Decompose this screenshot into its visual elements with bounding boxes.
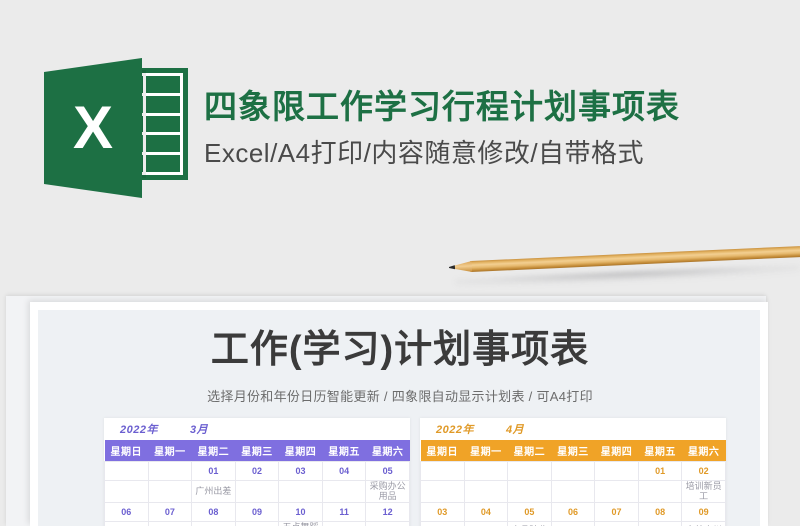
weekday-fri: 星期五 <box>638 440 682 462</box>
weekday-thu: 星期四 <box>279 440 323 462</box>
weekday-wed: 星期三 <box>551 440 595 462</box>
event-cell[interactable] <box>421 481 465 503</box>
banner-subtitle: Excel/A4打印/内容随意修改/自带格式 <box>204 137 680 170</box>
day-cell[interactable]: 09 <box>235 502 279 521</box>
weekday-tue: 星期二 <box>192 440 236 462</box>
weekday-fri: 星期五 <box>322 440 366 462</box>
day-cell[interactable]: 02 <box>682 462 726 481</box>
day-cell[interactable]: 03 <box>421 502 465 521</box>
day-cell[interactable]: 05 <box>366 462 410 481</box>
day-cell[interactable]: 07 <box>148 502 192 521</box>
weekday-thu: 星期四 <box>595 440 639 462</box>
event-cell[interactable] <box>638 521 682 526</box>
day-cell[interactable]: 11 <box>322 502 366 521</box>
day-cell[interactable] <box>508 462 552 481</box>
event-cell[interactable]: 出差广州 <box>682 521 726 526</box>
weekday-sat: 星期六 <box>366 440 410 462</box>
calendar-event-row: 五点舞蹈课 <box>105 521 410 526</box>
event-cell[interactable] <box>421 521 465 526</box>
event-cell[interactable] <box>595 481 639 503</box>
calendar-april[interactable]: 2022年 4月 星期日 星期一 星期二 星期三 星期四 星期五 星期六 <box>420 418 726 526</box>
calendar-april-weekday-row: 星期日 星期一 星期二 星期三 星期四 星期五 星期六 <box>421 440 726 462</box>
event-cell[interactable] <box>105 521 149 526</box>
day-cell[interactable] <box>421 462 465 481</box>
calendar-march-weekday-row: 星期日 星期一 星期二 星期三 星期四 星期五 星期六 <box>105 440 410 462</box>
calendar-day-row: 01 02 03 04 05 <box>105 462 410 481</box>
event-cell[interactable] <box>148 481 192 503</box>
excel-logo-icon: X <box>38 58 190 198</box>
event-cell[interactable]: 产品验收 <box>508 521 552 526</box>
event-cell[interactable] <box>235 481 279 503</box>
calendar-march-year[interactable]: 2022年 <box>120 421 190 437</box>
brand-text-block: 四象限工作学习行程计划事项表 Excel/A4打印/内容随意修改/自带格式 <box>204 86 680 170</box>
calendar-april-header: 2022年 4月 <box>420 418 726 440</box>
day-cell[interactable]: 02 <box>235 462 279 481</box>
day-cell[interactable]: 10 <box>279 502 323 521</box>
day-cell[interactable]: 06 <box>551 502 595 521</box>
day-cell[interactable] <box>148 462 192 481</box>
calendar-march[interactable]: 2022年 3月 星期日 星期一 星期二 星期三 星期四 星期五 星期六 <box>104 418 410 526</box>
event-cell[interactable] <box>551 521 595 526</box>
day-cell[interactable]: 01 <box>638 462 682 481</box>
promo-banner: X 四象限工作学习行程计划事项表 Excel/A4打印/内容随意修改/自带格式 <box>0 0 800 262</box>
day-cell[interactable]: 08 <box>638 502 682 521</box>
day-cell[interactable]: 04 <box>464 502 508 521</box>
day-cell[interactable]: 12 <box>366 502 410 521</box>
calendar-april-year[interactable]: 2022年 <box>436 421 506 437</box>
day-cell[interactable] <box>464 462 508 481</box>
weekday-mon: 星期一 <box>464 440 508 462</box>
banner-title: 四象限工作学习行程计划事项表 <box>204 86 680 127</box>
calendar-april-month[interactable]: 4月 <box>506 421 524 437</box>
weekday-sat: 星期六 <box>682 440 726 462</box>
day-cell[interactable]: 04 <box>322 462 366 481</box>
event-cell[interactable] <box>638 481 682 503</box>
event-cell[interactable] <box>322 481 366 503</box>
day-cell[interactable]: 03 <box>279 462 323 481</box>
calendar-march-table: 星期日 星期一 星期二 星期三 星期四 星期五 星期六 01 02 03 04 <box>104 440 410 526</box>
event-cell[interactable] <box>366 521 410 526</box>
weekday-sun: 星期日 <box>105 440 149 462</box>
document-subtitle: 选择月份和年份日历智能更新 / 四象限自动显示计划表 / 可A4打印 <box>0 386 800 405</box>
calendar-event-row: 广州出差 采购办公用品 <box>105 481 410 503</box>
event-cell[interactable] <box>279 481 323 503</box>
event-cell[interactable] <box>508 481 552 503</box>
event-cell[interactable] <box>148 521 192 526</box>
event-cell[interactable] <box>192 521 236 526</box>
day-cell[interactable] <box>595 462 639 481</box>
event-cell[interactable] <box>464 521 508 526</box>
document-title: 工作(学习)计划事项表 <box>0 318 800 373</box>
calendar-march-month[interactable]: 3月 <box>190 421 208 437</box>
day-cell[interactable]: 09 <box>682 502 726 521</box>
day-cell[interactable]: 06 <box>105 502 149 521</box>
calendar-april-table: 星期日 星期一 星期二 星期三 星期四 星期五 星期六 01 02 <box>420 440 726 526</box>
event-cell[interactable] <box>551 481 595 503</box>
event-cell[interactable] <box>105 481 149 503</box>
calendar-march-header: 2022年 3月 <box>104 418 410 440</box>
day-cell[interactable] <box>551 462 595 481</box>
calendar-day-row: 01 02 <box>421 462 726 481</box>
day-cell[interactable]: 05 <box>508 502 552 521</box>
weekday-mon: 星期一 <box>148 440 192 462</box>
screenshot-root: X 四象限工作学习行程计划事项表 Excel/A4打印/内容随意修改/自带格式 … <box>0 0 800 526</box>
day-cell[interactable]: 08 <box>192 502 236 521</box>
event-cell[interactable]: 五点舞蹈课 <box>279 521 323 526</box>
event-cell[interactable] <box>595 521 639 526</box>
event-cell[interactable]: 培训新员工 <box>682 481 726 503</box>
calendar-day-row: 03 04 05 06 07 08 09 <box>421 502 726 521</box>
event-cell[interactable]: 采购办公用品 <box>366 481 410 503</box>
calendar-event-row: 培训新员工 <box>421 481 726 503</box>
pencil-lead <box>449 265 455 269</box>
event-cell[interactable] <box>235 521 279 526</box>
calendar-day-row: 06 07 08 09 10 11 12 <box>105 502 410 521</box>
weekday-sun: 星期日 <box>421 440 465 462</box>
brand-row: X 四象限工作学习行程计划事项表 Excel/A4打印/内容随意修改/自带格式 <box>38 58 680 198</box>
pencil-tip <box>453 261 472 273</box>
weekday-wed: 星期三 <box>235 440 279 462</box>
event-cell[interactable] <box>322 521 366 526</box>
excel-logo-letter: X <box>44 58 142 198</box>
day-cell[interactable]: 07 <box>595 502 639 521</box>
calendar-event-row: 产品验收 出差广州 <box>421 521 726 526</box>
event-cell[interactable] <box>464 481 508 503</box>
weekday-tue: 星期二 <box>508 440 552 462</box>
day-cell[interactable] <box>105 462 149 481</box>
day-cell[interactable]: 01 <box>192 462 236 481</box>
event-cell[interactable]: 广州出差 <box>192 481 236 503</box>
